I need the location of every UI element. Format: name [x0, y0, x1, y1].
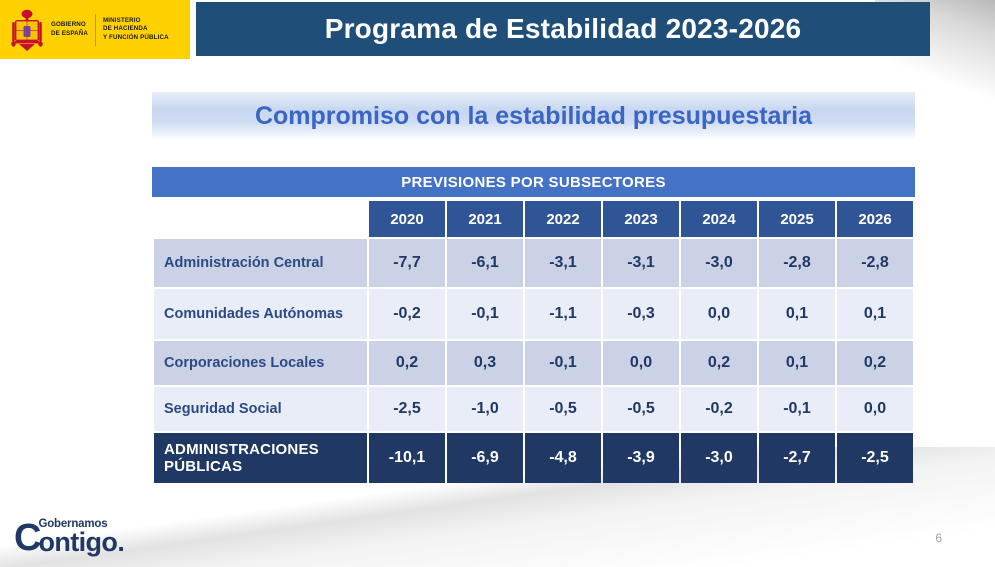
cell-administraciones-publicas-2020: -10,1	[369, 433, 445, 483]
table-title-bar: PREVISIONES POR SUBSECTORES	[152, 167, 915, 197]
cell-comunidades-autonomas-2025: 0,1	[759, 289, 835, 339]
column-header-2021: 2021	[447, 201, 523, 237]
cell-seguridad-social-2023: -0,5	[603, 387, 679, 431]
cell-corporaciones-locales-2023: 0,0	[603, 341, 679, 385]
row-label-administraciones-publicas: ADMINISTRACIONES PÚBLICAS	[154, 433, 367, 483]
gobernamos-contigo-logo: C Gobernamos ontigo.	[14, 518, 124, 555]
cell-administracion-central-2022: -3,1	[525, 239, 601, 287]
column-header-2022: 2022	[525, 201, 601, 237]
cell-corporaciones-locales-2025: 0,1	[759, 341, 835, 385]
table-title: PREVISIONES POR SUBSECTORES	[401, 174, 666, 191]
cell-corporaciones-locales-2022: -0,1	[525, 341, 601, 385]
logo-line-ministerio: MINISTERIO	[103, 17, 169, 25]
cell-corporaciones-locales-2021: 0,3	[447, 341, 523, 385]
cell-administraciones-publicas-2026: -2,5	[837, 433, 913, 483]
cell-comunidades-autonomas-2024: 0,0	[681, 289, 757, 339]
cell-comunidades-autonomas-2021: -0,1	[447, 289, 523, 339]
subsector-forecast-table: 2020 2021 2022 2023 2024 2025 2026 Admin…	[152, 199, 915, 485]
cell-seguridad-social-2025: -0,1	[759, 387, 835, 431]
table-corner-cell	[154, 201, 367, 237]
cell-comunidades-autonomas-2023: -0,3	[603, 289, 679, 339]
cell-comunidades-autonomas-2022: -1,1	[525, 289, 601, 339]
cell-administracion-central-2023: -3,1	[603, 239, 679, 287]
slide-title: Programa de Estabilidad 2023-2026	[325, 13, 802, 45]
row-label-seguridad-social: Seguridad Social	[154, 387, 367, 431]
subtitle-banner: Compromiso con la estabilidad presupuest…	[152, 92, 915, 140]
brand-wordmark: ontigo.	[38, 530, 124, 555]
page-number: 6	[935, 531, 942, 545]
cell-corporaciones-locales-2024: 0,2	[681, 341, 757, 385]
cell-seguridad-social-2026: 0,0	[837, 387, 913, 431]
cell-administraciones-publicas-2022: -4,8	[525, 433, 601, 483]
row-label-administracion-central: Administración Central	[154, 239, 367, 287]
table-row: Comunidades Autónomas -0,2 -0,1 -1,1 -0,…	[154, 289, 913, 339]
cell-administraciones-publicas-2023: -3,9	[603, 433, 679, 483]
cell-comunidades-autonomas-2020: -0,2	[369, 289, 445, 339]
cell-administraciones-publicas-2021: -6,9	[447, 433, 523, 483]
forecast-table: PREVISIONES POR SUBSECTORES 2020 2021 20…	[152, 167, 915, 485]
cell-comunidades-autonomas-2026: 0,1	[837, 289, 913, 339]
cell-corporaciones-locales-2026: 0,2	[837, 341, 913, 385]
row-label-comunidades-autonomas: Comunidades Autónomas	[154, 289, 367, 339]
table-header-row: 2020 2021 2022 2023 2024 2025 2026	[154, 201, 913, 237]
cell-seguridad-social-2021: -1,0	[447, 387, 523, 431]
cell-administracion-central-2020: -7,7	[369, 239, 445, 287]
table-row: Corporaciones Locales 0,2 0,3 -0,1 0,0 0…	[154, 341, 913, 385]
government-logo: GOBIERNO DE ESPAÑA MINISTERIO DE HACIEND…	[0, 0, 190, 59]
table-row: Seguridad Social -2,5 -1,0 -0,5 -0,5 -0,…	[154, 387, 913, 431]
cell-corporaciones-locales-2020: 0,2	[369, 341, 445, 385]
column-header-2023: 2023	[603, 201, 679, 237]
logo-divider	[95, 14, 96, 46]
cell-administracion-central-2024: -3,0	[681, 239, 757, 287]
column-header-2024: 2024	[681, 201, 757, 237]
subtitle-text: Compromiso con la estabilidad presupuest…	[255, 102, 812, 131]
brand-initial: C	[14, 521, 40, 555]
table-row: Administración Central -7,7 -6,1 -3,1 -3…	[154, 239, 913, 287]
logo-line-gobierno: GOBIERNO	[51, 21, 88, 29]
row-label-corporaciones-locales: Corporaciones Locales	[154, 341, 367, 385]
logo-line-funcion-publica: Y FUNCIÓN PÚBLICA	[103, 34, 169, 42]
cell-administracion-central-2025: -2,8	[759, 239, 835, 287]
column-header-2020: 2020	[369, 201, 445, 237]
cell-administraciones-publicas-2025: -2,7	[759, 433, 835, 483]
cell-seguridad-social-2024: -0,2	[681, 387, 757, 431]
cell-administracion-central-2026: -2,8	[837, 239, 913, 287]
slide-title-bar: Programa de Estabilidad 2023-2026	[196, 2, 930, 56]
column-header-2025: 2025	[759, 201, 835, 237]
column-header-2026: 2026	[837, 201, 913, 237]
logo-line-hacienda: DE HACIENDA	[103, 25, 169, 33]
cell-seguridad-social-2022: -0,5	[525, 387, 601, 431]
slide-stage: GOBIERNO DE ESPAÑA MINISTERIO DE HACIEND…	[0, 0, 995, 567]
logo-line-espana: DE ESPAÑA	[51, 30, 88, 38]
cell-administraciones-publicas-2024: -3,0	[681, 433, 757, 483]
table-total-row: ADMINISTRACIONES PÚBLICAS -10,1 -6,9 -4,…	[154, 433, 913, 483]
cell-administracion-central-2021: -6,1	[447, 239, 523, 287]
cell-seguridad-social-2020: -2,5	[369, 387, 445, 431]
spain-coat-of-arms-icon	[10, 8, 44, 52]
